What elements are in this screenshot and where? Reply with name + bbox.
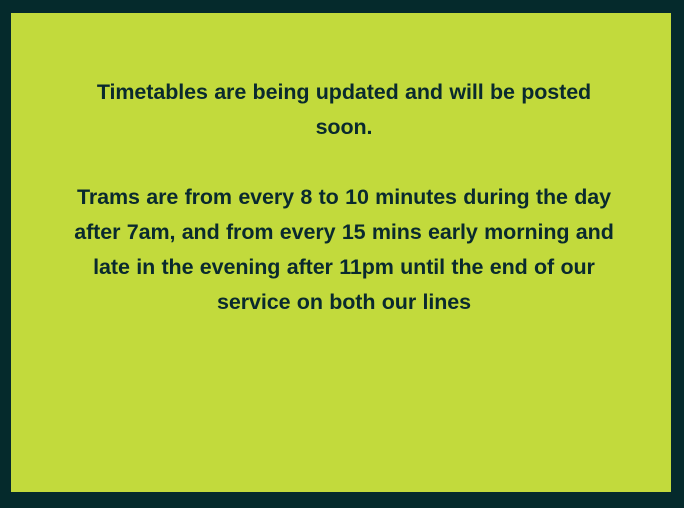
- notice-panel: Timetables are being updated and will be…: [11, 13, 671, 492]
- paragraph-spacer: [66, 145, 622, 180]
- notice-paragraph-tram-frequency: Trams are from every 8 to 10 minutes dur…: [66, 180, 622, 320]
- notice-frame: Timetables are being updated and will be…: [0, 0, 684, 508]
- notice-paragraph-timetable-update: Timetables are being updated and will be…: [66, 75, 622, 145]
